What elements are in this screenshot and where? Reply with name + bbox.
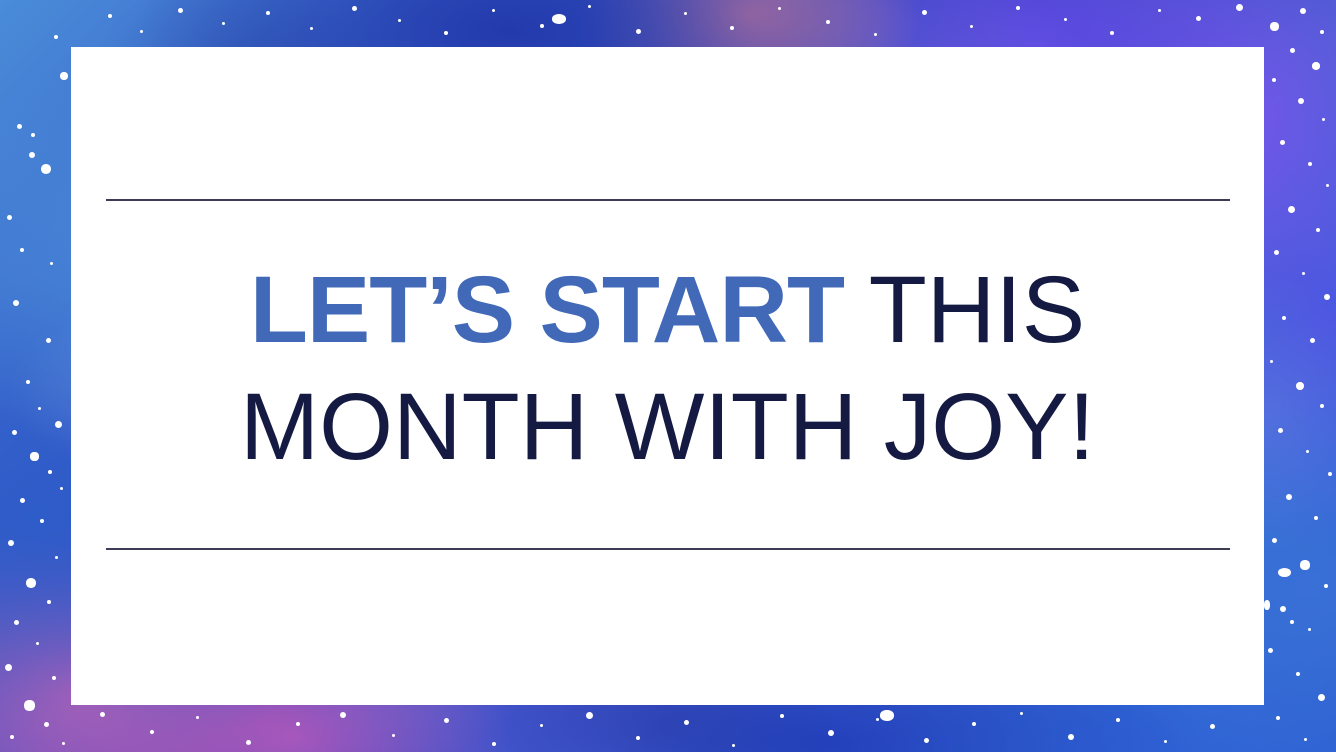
- headline-plain-text: THIS: [844, 257, 1085, 363]
- headline: LET’S START THIS MONTH WITH JOY!: [71, 263, 1264, 475]
- divider-bottom: [106, 548, 1230, 550]
- divider-top: [106, 199, 1230, 201]
- slide-canvas: LET’S START THIS MONTH WITH JOY!: [0, 0, 1336, 752]
- headline-line-2: MONTH WITH JOY!: [71, 380, 1264, 475]
- content-card: LET’S START THIS MONTH WITH JOY!: [71, 47, 1264, 705]
- headline-accent-text: LET’S START: [250, 257, 844, 363]
- headline-line-1: LET’S START THIS: [71, 263, 1264, 358]
